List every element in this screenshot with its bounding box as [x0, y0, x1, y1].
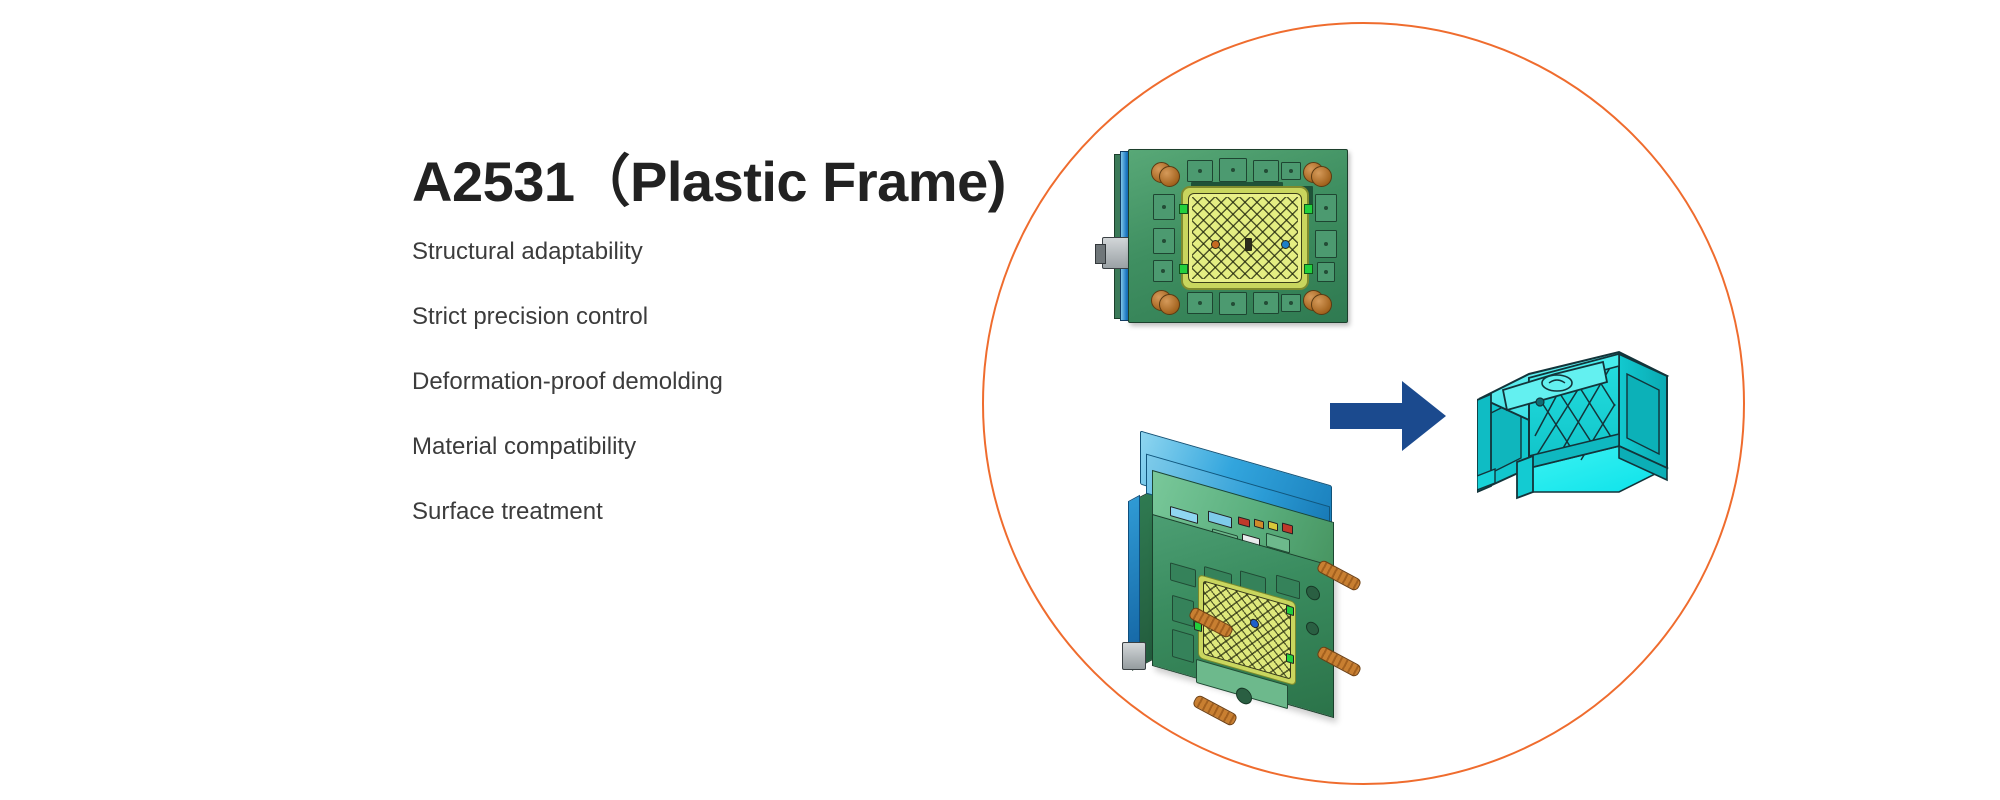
molded-plastic-frame-figure	[1477, 340, 1671, 520]
mold-isometric-figure	[1130, 436, 1420, 736]
cavity-marker	[1286, 605, 1294, 616]
mold-fixture-block	[1281, 294, 1301, 312]
mold-fixture-block	[1187, 292, 1213, 314]
list-item: Deformation-proof demolding	[412, 370, 972, 394]
cavity-marker	[1286, 653, 1294, 664]
mold-front-view-figure	[1114, 149, 1346, 321]
cavity-marker	[1179, 264, 1188, 274]
mold-fixture-block	[1153, 260, 1173, 282]
mold-fixture-block	[1315, 230, 1337, 258]
cavity-plate	[1188, 193, 1302, 283]
mold-fixture-block	[1253, 292, 1279, 314]
feature-list: Structural adaptability Strict precision…	[412, 240, 972, 524]
list-item: Material compatibility	[412, 435, 972, 459]
mold-fixture-block	[1317, 262, 1335, 282]
mold-fixture-block	[1187, 160, 1213, 182]
mold-clamp-bracket	[1102, 237, 1130, 269]
mold-left-blue-rail	[1128, 495, 1140, 653]
mold-cavity-insert	[1181, 186, 1309, 290]
mold-plate-body	[1128, 149, 1348, 323]
mold-fixture-block	[1219, 292, 1247, 315]
mold-fixture-block	[1281, 162, 1301, 180]
cavity-marker	[1304, 204, 1313, 214]
list-item: Strict precision control	[412, 305, 972, 329]
page-root: A2531（Plastic Frame) Structural adaptabi…	[0, 0, 2000, 800]
list-item: Structural adaptability	[412, 240, 972, 264]
page-title: A2531（Plastic Frame)	[412, 150, 972, 214]
mold-fixture-block	[1315, 194, 1337, 222]
list-item: Surface treatment	[412, 500, 972, 524]
cavity-port-blue	[1281, 240, 1290, 249]
product-info-panel: A2531（Plastic Frame) Structural adaptabi…	[412, 150, 972, 524]
cavity-marker	[1304, 264, 1313, 274]
cavity-port-orange	[1211, 240, 1220, 249]
process-arrow-icon	[1330, 377, 1446, 455]
guide-pin-icon	[1159, 166, 1180, 187]
mold-clamp-bracket	[1122, 642, 1146, 670]
mold-fixture-block	[1153, 194, 1175, 220]
cavity-slot	[1245, 238, 1252, 251]
guide-pin-icon	[1159, 294, 1180, 315]
guide-pin-icon	[1311, 294, 1332, 315]
cavity-marker	[1179, 204, 1188, 214]
ejector-rod	[1192, 694, 1239, 727]
mold-fixture-block	[1253, 160, 1279, 182]
guide-pin-icon	[1311, 166, 1332, 187]
mold-fixture-block	[1219, 158, 1247, 182]
mold-fixture-block	[1153, 228, 1175, 254]
illustration-stage	[982, 22, 1745, 785]
mold-fixture-block	[1172, 629, 1194, 663]
